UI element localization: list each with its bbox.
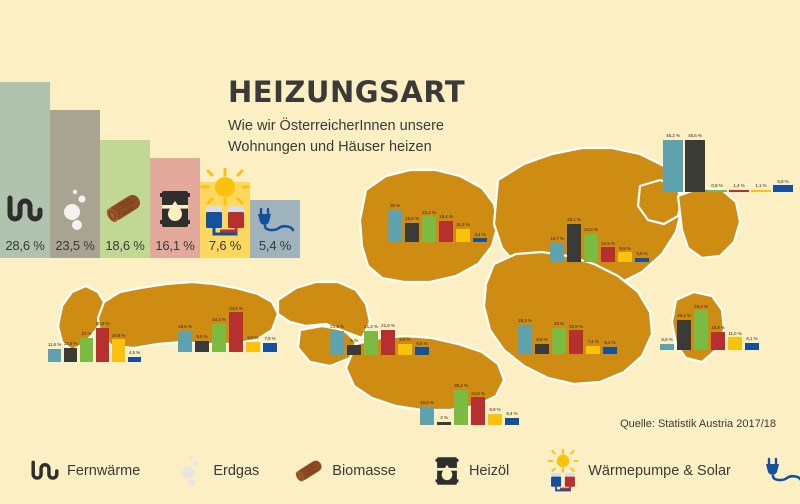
region-bar-rect bbox=[773, 185, 793, 192]
region-bar-label: 0,8 % bbox=[711, 184, 722, 189]
region-bar-heizl: 1,4 % bbox=[729, 184, 749, 192]
region-bar-heizl: 34,6 % bbox=[229, 307, 243, 352]
region-bar-label: 8,8 % bbox=[536, 338, 547, 343]
region-bar-wrmepumpesolar: 9,9 % bbox=[398, 338, 412, 355]
region-bar-label: 24,4 % bbox=[212, 318, 226, 323]
district-heating-pipe-icon bbox=[28, 454, 62, 488]
region-bar-biomasse: 21 % bbox=[80, 332, 93, 362]
page-title: HEIZUNGSART bbox=[228, 78, 528, 107]
region-bar-strom: 3,9 % bbox=[635, 252, 649, 262]
region-chart-wien: 45,2 %45,5 %0,8 %1,4 %1,1 %5,8 % bbox=[663, 130, 793, 192]
region-bar-rect bbox=[405, 223, 419, 242]
region-bar-rect bbox=[212, 324, 226, 352]
region-bar-strom: 4,5 % bbox=[128, 351, 141, 362]
region-bar-rect bbox=[330, 331, 344, 355]
national-value-erdgas: 23,5 % bbox=[55, 238, 94, 258]
region-bar-label: 11,3 % bbox=[456, 223, 469, 228]
region-bar-heizl: 12,9 % bbox=[601, 242, 615, 262]
region-bar-rect bbox=[728, 337, 742, 350]
region-bar-label: 4,5 % bbox=[129, 351, 140, 356]
region-bar-rect bbox=[603, 347, 617, 354]
region-bar-erdgas: 8,8 % bbox=[535, 338, 549, 354]
region-bar-wrmepumpesolar: 9,9 % bbox=[488, 408, 502, 425]
region-bar-fernwrme: 11,6 % bbox=[48, 343, 61, 362]
map-region-burgenland-nord bbox=[678, 188, 740, 258]
region-bars: 16,0 %3 %30,4 %24,0 %9,9 %6,4 % bbox=[420, 363, 519, 425]
region-bar-label: 5,6 % bbox=[661, 338, 672, 343]
region-bar-strom: 6,1 % bbox=[745, 337, 759, 350]
region-bar-rect bbox=[586, 346, 600, 355]
region-bar-rect bbox=[439, 221, 453, 242]
region-bar-rect bbox=[601, 247, 615, 262]
national-bar-erdgas: 23,5 % bbox=[50, 110, 100, 258]
region-bar-label: 16,0 % bbox=[420, 401, 434, 406]
infographic-canvas: 28,6 % 23,5 % bbox=[0, 0, 800, 499]
region-bar-label: 1,4 % bbox=[733, 184, 744, 189]
national-bar-heizoel: 16,1 % bbox=[150, 158, 200, 258]
legend-item-heizoel[interactable]: Heizöl bbox=[430, 454, 509, 488]
region-bar-fernwrme: 28 % bbox=[388, 204, 402, 242]
national-value-strom: 5,4 % bbox=[259, 238, 291, 258]
region-bar-fernwrme: 21,3 % bbox=[330, 325, 344, 355]
region-bar-label: 30,4 % bbox=[454, 384, 468, 389]
electric-plug-icon bbox=[761, 454, 800, 488]
region-bar-label: 21,2 % bbox=[364, 325, 378, 330]
region-bar-label: 24,5 % bbox=[584, 228, 598, 233]
region-bar-label: 9,9 % bbox=[399, 338, 410, 343]
region-bar-rect bbox=[635, 258, 649, 262]
region-bar-biomasse: 22,2 % bbox=[422, 211, 436, 242]
region-bar-erdgas: 12,5 % bbox=[64, 342, 77, 362]
region-bar-label: 18,4 % bbox=[439, 215, 453, 220]
region-bars: 18,5 %9,5 %24,4 %34,6 %8,9 %7,9 % bbox=[178, 290, 277, 352]
legend-item-strom[interactable]: Strom bbox=[761, 454, 800, 488]
page-subtitle: Wie wir ÖsterreicherInnen unsere Wohnung… bbox=[228, 116, 528, 157]
region-chart-steiermark: 25,3 %8,8 %23 %20,8 %7,4 %6,2 % bbox=[518, 292, 617, 354]
national-value-fernwaerme: 28,6 % bbox=[5, 238, 44, 258]
region-bar-erdgas: 9,5 % bbox=[195, 335, 209, 352]
region-bar-rect bbox=[567, 224, 581, 262]
legend-label-waermepumpe-solar: Wärmepumpe & Solar bbox=[588, 463, 731, 479]
region-bar-biomasse: 24,5 % bbox=[584, 228, 598, 262]
region-bar-rect bbox=[80, 338, 93, 362]
region-bar-label: 12,5 % bbox=[64, 342, 78, 347]
region-bar-rect bbox=[618, 252, 632, 262]
region-bar-label: 33,1 % bbox=[567, 218, 581, 223]
sun-heatpump-icon bbox=[543, 449, 583, 493]
region-bar-rect bbox=[415, 347, 429, 355]
national-bar-waermepumpe-solar: 7,6 % bbox=[200, 182, 250, 258]
region-bar-erdgas: 3 % bbox=[437, 416, 451, 425]
region-bar-label: 1,1 % bbox=[755, 184, 766, 189]
region-bar-label: 9,5 % bbox=[196, 335, 207, 340]
region-bar-label: 6,2 % bbox=[604, 341, 615, 346]
region-bar-rect bbox=[694, 310, 708, 350]
source-note: Quelle: Statistik Austria 2017/18 bbox=[620, 418, 776, 430]
region-chart-salzburg: 21,3 %9 %21,2 %21,9 %9,9 %6,6 % bbox=[330, 293, 429, 355]
gas-bubbles-icon bbox=[50, 180, 100, 238]
region-bar-erdgas: 33,1 % bbox=[567, 218, 581, 262]
region-bar-label: 30,0 % bbox=[96, 322, 110, 327]
region-bar-wrmepumpesolar: 11,3 % bbox=[456, 223, 470, 242]
oil-barrel-icon bbox=[150, 180, 200, 238]
region-bar-rect bbox=[195, 341, 209, 352]
region-bar-label: 28 % bbox=[390, 204, 400, 209]
legend-item-waermepumpe-solar[interactable]: Wärmepumpe & Solar bbox=[543, 449, 731, 493]
region-bar-rect bbox=[729, 190, 749, 192]
region-bar-label: 25,3 % bbox=[518, 319, 532, 324]
region-bar-strom: 7,9 % bbox=[263, 337, 277, 352]
page-subtitle-line2: Wohnungen und Häuser heizen bbox=[228, 137, 528, 158]
region-chart-vorarlberg: 11,6 %12,5 %21 %30,0 %19,6 %4,5 % bbox=[48, 300, 141, 362]
wood-log-icon bbox=[100, 180, 150, 238]
region-bar-rect bbox=[64, 348, 77, 362]
legend-label-erdgas: Erdgas bbox=[213, 463, 259, 479]
region-bar-label: 9,9 % bbox=[489, 408, 500, 413]
region-bar-rect bbox=[437, 422, 451, 425]
region-bar-heizl: 18,4 % bbox=[439, 215, 453, 242]
region-bar-heizl: 21,9 % bbox=[381, 324, 395, 355]
region-bar-label: 19,6 % bbox=[112, 334, 126, 339]
region-chart-burgenland: 5,6 %26,4 %34,4 %15,9 %11,0 %6,1 % bbox=[660, 288, 759, 350]
region-bar-label: 15,9 % bbox=[711, 326, 725, 331]
region-bar-rect bbox=[711, 332, 725, 350]
region-bar-rect bbox=[535, 344, 549, 354]
region-bar-label: 16,6 % bbox=[405, 217, 419, 222]
region-bar-label: 12,9 % bbox=[601, 242, 615, 247]
electric-plug-icon bbox=[250, 204, 300, 238]
region-bar-rect bbox=[263, 343, 277, 352]
legend-label-heizoel: Heizöl bbox=[469, 463, 509, 479]
region-bar-label: 6,4 % bbox=[506, 412, 517, 417]
region-bar-rect bbox=[96, 328, 109, 363]
region-bar-wrmepumpesolar: 8,5 % bbox=[618, 247, 632, 262]
region-bar-rect bbox=[48, 349, 61, 362]
region-bars: 25,3 %8,8 %23 %20,8 %7,4 %6,2 % bbox=[518, 292, 617, 354]
region-bars: 11,6 %12,5 %21 %30,0 %19,6 %4,5 % bbox=[48, 300, 141, 362]
region-bar-label: 8,9 % bbox=[247, 336, 258, 341]
region-chart-niedersterreich: 16,7 %33,1 %24,5 %12,9 %8,5 %3,9 % bbox=[550, 200, 649, 262]
region-bar-biomasse: 21,2 % bbox=[364, 325, 378, 355]
region-bar-fernwrme: 45,2 % bbox=[663, 134, 683, 192]
region-bar-wrmepumpesolar: 8,9 % bbox=[246, 336, 260, 352]
region-bar-rect bbox=[677, 320, 691, 350]
national-value-heizoel: 16,1 % bbox=[155, 238, 194, 258]
region-bar-label: 16,7 % bbox=[550, 237, 564, 242]
region-chart-krnten: 16,0 %3 %30,4 %24,0 %9,9 %6,4 % bbox=[420, 363, 519, 425]
wood-log-icon bbox=[293, 454, 327, 488]
region-bar-label: 22,2 % bbox=[422, 211, 436, 216]
region-bar-rect bbox=[488, 414, 502, 425]
region-bar-label: 24,0 % bbox=[471, 392, 485, 397]
region-bar-rect bbox=[246, 342, 260, 352]
region-bar-fernwrme: 18,5 % bbox=[178, 325, 192, 352]
region-bar-label: 21,9 % bbox=[381, 324, 395, 329]
national-value-waermepumpe-solar: 7,6 % bbox=[209, 238, 241, 258]
region-bar-label: 11,6 % bbox=[48, 343, 61, 348]
region-bar-label: 11,0 % bbox=[728, 332, 741, 337]
legend-label-biomasse: Biomasse bbox=[332, 463, 396, 479]
region-chart-obersterreich: 28 %16,6 %22,2 %18,4 %11,3 %3,4 % bbox=[388, 180, 487, 242]
region-bar-wrmepumpesolar: 1,1 % bbox=[751, 184, 771, 192]
oil-barrel-icon bbox=[430, 454, 464, 488]
sun-heatpump-icon bbox=[200, 168, 250, 238]
legend-item-fernwaerme[interactable]: Fernwärme bbox=[28, 454, 140, 488]
region-bar-rect bbox=[381, 330, 395, 355]
region-bars: 45,2 %45,5 %0,8 %1,4 %1,1 %5,8 % bbox=[663, 130, 793, 192]
region-bar-heizl: 15,9 % bbox=[711, 326, 725, 350]
region-bar-wrmepumpesolar: 7,4 % bbox=[586, 340, 600, 354]
region-bar-rect bbox=[707, 190, 727, 192]
region-bar-label: 6,6 % bbox=[416, 342, 427, 347]
region-bar-rect bbox=[745, 343, 759, 350]
region-bar-rect bbox=[660, 344, 674, 350]
region-bar-label: 9 % bbox=[350, 339, 358, 344]
region-bar-rect bbox=[751, 190, 771, 192]
region-bar-label: 26,4 % bbox=[677, 314, 691, 319]
region-bar-rect bbox=[229, 312, 243, 352]
region-bar-fernwrme: 16,7 % bbox=[550, 237, 564, 262]
region-bar-label: 8,5 % bbox=[619, 247, 630, 252]
region-bar-rect bbox=[584, 234, 598, 262]
region-bar-rect bbox=[178, 331, 192, 352]
gas-bubbles-icon bbox=[174, 454, 208, 488]
region-bar-rect bbox=[569, 330, 583, 354]
region-bars: 28 %16,6 %22,2 %18,4 %11,3 %3,4 % bbox=[388, 180, 487, 242]
region-bar-heizl: 24,0 % bbox=[471, 392, 485, 425]
region-bar-rect bbox=[473, 238, 487, 242]
legend-item-erdgas[interactable]: Erdgas bbox=[174, 454, 259, 488]
region-bar-label: 45,2 % bbox=[666, 134, 680, 139]
region-bar-erdgas: 26,4 % bbox=[677, 314, 691, 350]
national-bar-fernwaerme: 28,6 % bbox=[0, 82, 50, 258]
region-bar-label: 45,5 % bbox=[688, 134, 702, 139]
national-bar-biomasse: 18,6 % bbox=[100, 140, 150, 258]
region-bars: 16,7 %33,1 %24,5 %12,9 %8,5 %3,9 % bbox=[550, 200, 649, 262]
region-bar-rect bbox=[112, 339, 125, 362]
region-bar-rect bbox=[505, 418, 519, 425]
region-bar-label: 23 % bbox=[554, 322, 564, 327]
region-bar-label: 6,1 % bbox=[746, 337, 757, 342]
district-heating-pipe-icon bbox=[0, 180, 50, 238]
region-bar-wrmepumpesolar: 19,6 % bbox=[112, 334, 125, 362]
region-bar-biomasse: 24,4 % bbox=[212, 318, 226, 352]
region-bar-strom: 5,8 % bbox=[773, 180, 793, 192]
region-bar-fernwrme: 5,6 % bbox=[660, 338, 674, 350]
region-bar-rect bbox=[685, 140, 705, 192]
region-bar-heizl: 20,8 % bbox=[569, 325, 583, 355]
region-bar-rect bbox=[456, 229, 470, 242]
title-block: HEIZUNGSART Wie wir ÖsterreicherInnen un… bbox=[228, 78, 528, 157]
region-bar-rect bbox=[663, 140, 683, 192]
region-bar-label: 7,9 % bbox=[264, 337, 275, 342]
region-bar-erdgas: 16,6 % bbox=[405, 217, 419, 242]
region-bar-rect bbox=[471, 397, 485, 425]
region-bar-strom: 6,4 % bbox=[505, 412, 519, 425]
region-bar-biomasse: 30,4 % bbox=[454, 384, 468, 425]
region-bar-biomasse: 34,4 % bbox=[694, 305, 708, 350]
region-bar-label: 5,8 % bbox=[777, 180, 788, 185]
region-bars: 21,3 %9 %21,2 %21,9 %9,9 %6,6 % bbox=[330, 293, 429, 355]
region-bar-heizl: 30,0 % bbox=[96, 322, 109, 362]
region-bar-label: 3,4 % bbox=[474, 233, 485, 238]
region-bar-fernwrme: 16,0 % bbox=[420, 401, 434, 425]
legend: Fernwärme Erdgas bbox=[0, 443, 800, 499]
region-bar-label: 3 % bbox=[440, 416, 448, 421]
region-bar-rect bbox=[347, 345, 361, 355]
region-bar-strom: 3,4 % bbox=[473, 233, 487, 243]
region-bar-rect bbox=[550, 243, 564, 262]
region-bar-rect bbox=[364, 331, 378, 355]
legend-label-fernwaerme: Fernwärme bbox=[67, 463, 140, 479]
region-bar-rect bbox=[388, 210, 402, 242]
national-value-biomasse: 18,6 % bbox=[105, 238, 144, 258]
region-bar-rect bbox=[128, 357, 141, 362]
region-bar-rect bbox=[422, 216, 436, 242]
region-bar-rect bbox=[552, 328, 566, 354]
region-bar-label: 21 % bbox=[81, 332, 91, 337]
region-bar-erdgas: 45,5 % bbox=[685, 134, 705, 192]
region-bar-biomasse: 0,8 % bbox=[707, 184, 727, 192]
region-bar-biomasse: 23 % bbox=[552, 322, 566, 354]
region-bar-wrmepumpesolar: 11,0 % bbox=[728, 332, 742, 350]
page-subtitle-line1: Wie wir ÖsterreicherInnen unsere bbox=[228, 116, 528, 137]
region-bar-fernwrme: 25,3 % bbox=[518, 319, 532, 354]
region-bar-label: 34,6 % bbox=[229, 307, 243, 312]
legend-item-biomasse[interactable]: Biomasse bbox=[293, 454, 396, 488]
region-bars: 5,6 %26,4 %34,4 %15,9 %11,0 %6,1 % bbox=[660, 288, 759, 350]
region-bar-erdgas: 9 % bbox=[347, 339, 361, 355]
region-bar-strom: 6,2 % bbox=[603, 341, 617, 354]
national-bar-strom: 5,4 % bbox=[250, 200, 300, 258]
region-bar-rect bbox=[454, 390, 468, 425]
region-bar-label: 21,3 % bbox=[330, 325, 344, 330]
region-bar-rect bbox=[518, 325, 532, 354]
region-bar-label: 18,5 % bbox=[178, 325, 192, 330]
region-bar-label: 3,9 % bbox=[636, 252, 647, 257]
region-bar-label: 20,8 % bbox=[569, 325, 583, 330]
region-bar-strom: 6,6 % bbox=[415, 342, 429, 355]
region-bar-label: 7,4 % bbox=[587, 340, 598, 345]
region-bar-rect bbox=[420, 407, 434, 425]
region-chart-tirol: 18,5 %9,5 %24,4 %34,6 %8,9 %7,9 % bbox=[178, 290, 277, 352]
region-bar-rect bbox=[398, 344, 412, 355]
region-bar-label: 34,4 % bbox=[694, 305, 708, 310]
